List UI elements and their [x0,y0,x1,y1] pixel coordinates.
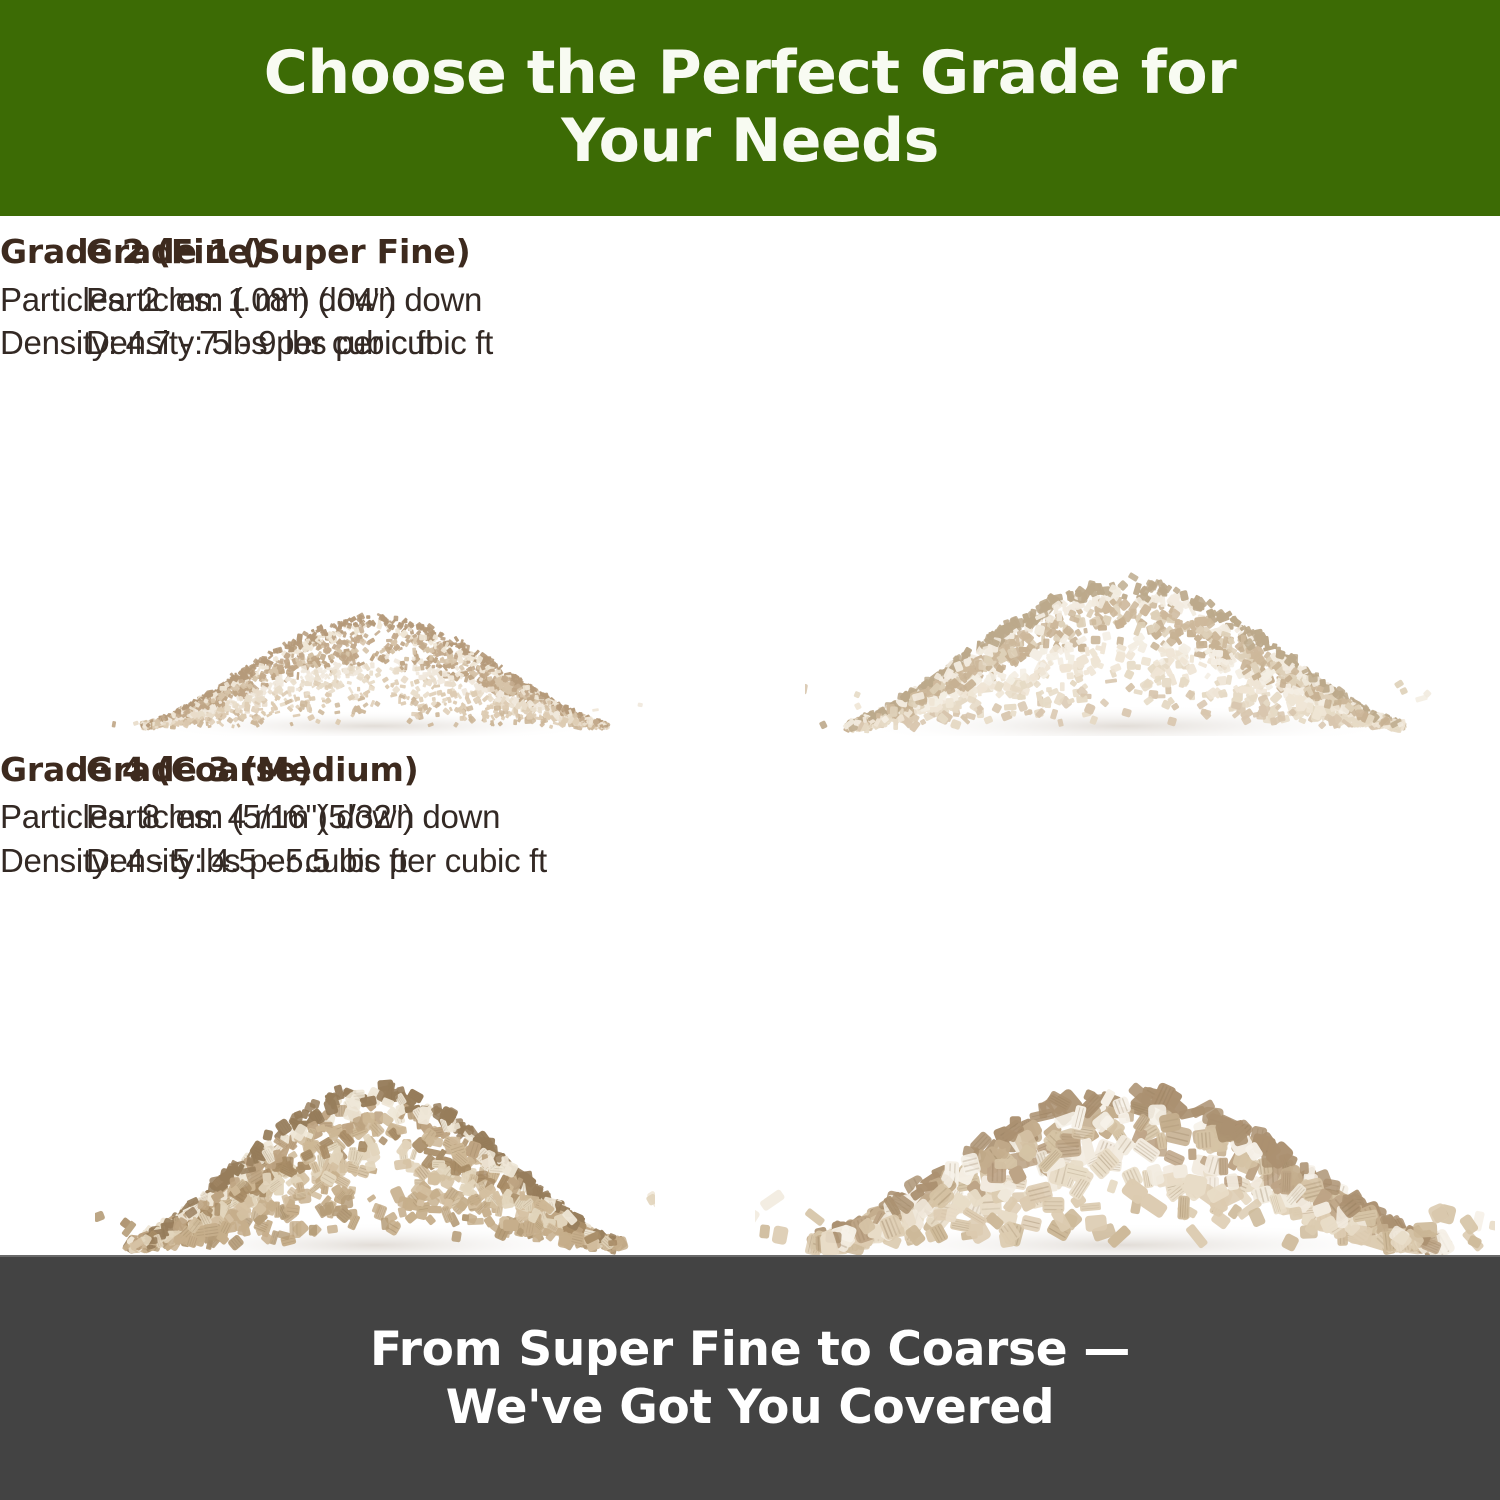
footer-tagline: From Super Fine to Coarse — We've Got Yo… [330,1321,1170,1436]
grade-2-image [750,365,1500,736]
grade-2-text-block: Grade 2 (Fine) Particles: 2 mm (.08") do… [0,232,1500,365]
footer-banner: From Super Fine to Coarse — We've Got Yo… [0,1255,1500,1500]
grade-1-image [0,365,750,736]
page-title: Choose the Perfect Grade for Your Needs [224,40,1276,176]
header-banner: Choose the Perfect Grade for Your Needs [0,0,1500,216]
medium-vermiculite-pile-icon [95,945,655,1255]
grade-4-image [750,882,1500,1255]
grades-grid: Grade 1 (Super Fine) Particles: 1 mm (.0… [0,216,1500,1255]
grade-card-4: Grade 4 (Coarse) Particles: 8 mm (5/16")… [750,736,1500,1256]
super-fine-vermiculite-pile-icon [105,486,645,736]
grade-4-title: Grade 4 (Coarse) [0,750,1500,790]
grade-4-particles: Particles: 8 mm (5/16") down [0,795,1500,839]
grade-2-density: Density: 4.7 - 7 lbs per cubic ft [0,321,1500,365]
grade-3-image [0,882,750,1255]
grade-2-particles: Particles: 2 mm (.08") down [0,278,1500,322]
footer-title-line-1: From Super Fine to Coarse — [370,1322,1130,1377]
header-title-line-2: Your Needs [264,108,1236,176]
grade-4-text-block: Grade 4 (Coarse) Particles: 8 mm (5/16")… [0,750,1500,883]
grade-card-2: Grade 2 (Fine) Particles: 2 mm (.08") do… [750,216,1500,736]
footer-title-line-2: We've Got You Covered [370,1379,1130,1436]
grade-2-title: Grade 2 (Fine) [0,232,1500,272]
fine-vermiculite-pile-icon [805,436,1445,736]
grade-4-density: Density: 4 - 5 lbs per cubic ft [0,839,1500,883]
coarse-vermiculite-pile-icon [755,955,1495,1255]
header-title-line-1: Choose the Perfect Grade for [264,38,1236,108]
infographic-page: Choose the Perfect Grade for Your Needs … [0,0,1500,1500]
